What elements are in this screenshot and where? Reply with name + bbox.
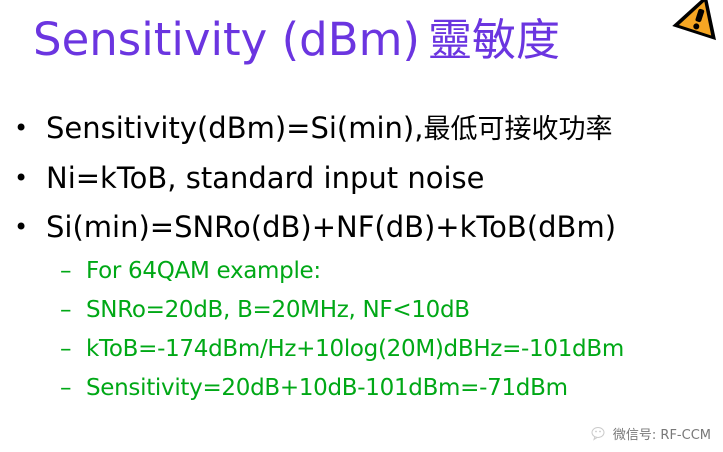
wechat-bubble-icon — [591, 426, 608, 441]
sub-bullet-item: –SNRo=20dB, B=20MHz, NF<10dB — [0, 291, 723, 330]
sub-bullet-text: SNRo=20dB, B=20MHz, NF<10dB — [86, 297, 470, 323]
bullet-text: Si(min)=SNRo(dB)+NF(dB)+kToB(dBm) — [46, 210, 616, 244]
slide-title: Sensitivity (dBm)靈敏度 — [33, 9, 560, 72]
sub-bullet-item: –kToB=-174dBm/Hz+10log(20M)dBHz=-101dBm — [0, 330, 723, 369]
sub-bullet-marker: – — [60, 252, 71, 291]
bullet-item: •Sensitivity(dBm)=Si(min),最低可接收功率 — [0, 104, 723, 154]
warning-triangle-logo — [671, 0, 723, 44]
watermark: 微信号: RF-CCM — [591, 424, 711, 443]
slide-title-cjk: 靈敏度 — [428, 15, 560, 66]
sub-bullet-marker: – — [60, 330, 71, 369]
bullet-marker: • — [14, 203, 28, 252]
sub-bullet-item: –Sensitivity=20dB+10dB-101dBm=-71dBm — [0, 369, 723, 408]
bullet-marker: • — [14, 154, 28, 203]
watermark-text: 微信号: RF-CCM — [613, 424, 711, 443]
sub-bullet-marker: – — [60, 369, 71, 408]
bullet-item: •Ni=kToB, standard input noise — [0, 154, 723, 203]
slide-body: •Sensitivity(dBm)=Si(min),最低可接收功率 •Ni=kT… — [0, 104, 723, 408]
sub-bullet-text: Sensitivity=20dB+10dB-101dBm=-71dBm — [86, 375, 568, 401]
bullet-text-cjk: 最低可接收功率 — [423, 114, 612, 145]
sub-bullet-text: For 64QAM example: — [86, 258, 321, 284]
sub-bullet-item: –For 64QAM example: — [0, 252, 723, 291]
slide-canvas: Sensitivity (dBm)靈敏度 •Sensitivity(dBm)=S… — [0, 0, 723, 452]
slide-title-latin: Sensitivity (dBm) — [33, 13, 420, 66]
bullet-text: Ni=kToB, standard input noise — [46, 161, 485, 195]
sub-bullet-marker: – — [60, 291, 71, 330]
bullet-text: Sensitivity(dBm)=Si(min), — [46, 111, 423, 145]
bullet-marker: • — [14, 104, 28, 153]
bullet-item: •Si(min)=SNRo(dB)+NF(dB)+kToB(dBm) — [0, 203, 723, 252]
sub-bullet-text: kToB=-174dBm/Hz+10log(20M)dBHz=-101dBm — [86, 336, 624, 362]
